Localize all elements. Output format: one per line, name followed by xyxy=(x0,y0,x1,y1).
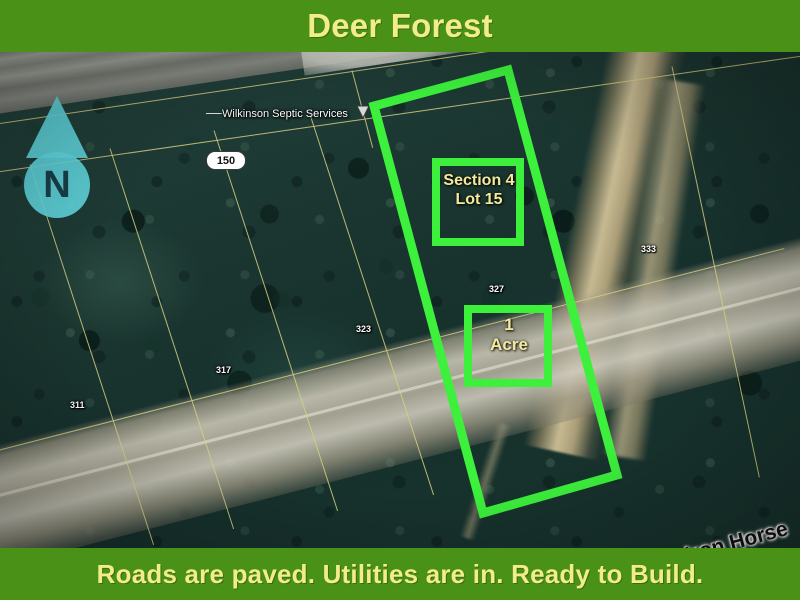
section-lot-label: Section 4 Lot 15 xyxy=(432,172,526,210)
acre-line-2: Acre xyxy=(466,335,552,355)
compass-rose: N xyxy=(24,96,100,224)
tagline: Roads are paved. Utilities are in. Ready… xyxy=(97,559,704,590)
lot-overlay xyxy=(0,52,800,548)
section-line-2: Lot 15 xyxy=(432,191,526,210)
page-title: Deer Forest xyxy=(307,7,493,45)
section-line-1: Section 4 xyxy=(432,172,526,191)
satellite-map: Wilkinson Septic Services 150 311 317 32… xyxy=(0,52,800,548)
lot-boundary-polygon xyxy=(374,70,617,513)
top-banner: Deer Forest xyxy=(0,0,800,52)
listing-map-graphic: Deer Forest Wilkinson Septic Services xyxy=(0,0,800,600)
acreage-label: 1 Acre xyxy=(466,315,552,355)
compass-north-letter: N xyxy=(24,152,90,218)
acre-line-1: 1 xyxy=(466,315,552,335)
compass-north-arrow-icon xyxy=(26,96,88,158)
bottom-banner: Roads are paved. Utilities are in. Ready… xyxy=(0,548,800,600)
